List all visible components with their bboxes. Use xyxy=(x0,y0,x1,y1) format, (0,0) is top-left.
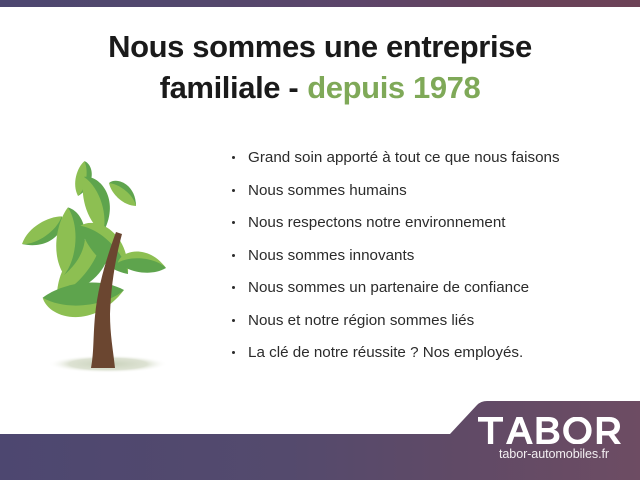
list-item-label: Nous respectons notre environnement xyxy=(248,214,506,231)
bullet-dot-icon xyxy=(232,156,235,159)
list-item-label: Nous et notre région sommes liés xyxy=(248,312,474,329)
list-item: Nous sommes humains xyxy=(231,181,631,201)
list-item: La clé de notre réussite ? Nos employés. xyxy=(231,343,631,363)
page-title: Nous sommes une entreprise familiale -de… xyxy=(0,26,640,108)
list-item: Grand soin apporté à tout ce que nous fa… xyxy=(231,148,631,168)
list-item-label: Nous sommes un partenaire de confiance xyxy=(248,279,529,296)
bullet-dot-icon xyxy=(232,254,235,257)
tabor-wordmark-icon xyxy=(478,417,626,444)
bullet-dot-icon xyxy=(232,351,235,354)
page-title-line-1: Nous sommes une entreprise xyxy=(0,26,640,67)
bullet-dot-icon xyxy=(232,319,235,322)
brand-tagline: tabor-automobiles.fr xyxy=(478,447,630,461)
bullet-dot-icon xyxy=(232,189,235,192)
top-accent-band xyxy=(0,0,640,7)
brand-logo[interactable]: tabor-automobiles.fr xyxy=(478,417,630,461)
slide-canvas: Nous sommes une entreprise familiale -de… xyxy=(0,0,640,480)
benefits-list: Grand soin apporté à tout ce que nous fa… xyxy=(231,148,631,376)
list-item: Nous et notre région sommes liés xyxy=(231,311,631,331)
list-item: Nous respectons notre environnement xyxy=(231,213,631,233)
bullet-dot-icon xyxy=(232,286,235,289)
list-item-label: Nous sommes humains xyxy=(248,182,407,199)
page-title-accent: depuis 1978 xyxy=(307,70,480,105)
list-item-label: La clé de notre réussite ? Nos employés. xyxy=(248,344,523,361)
list-item: Nous sommes innovants xyxy=(231,246,631,266)
list-item-label: Nous sommes innovants xyxy=(248,247,414,264)
page-title-line-2-main: familiale - xyxy=(160,70,299,105)
list-item-label: Grand soin apporté à tout ce que nous fa… xyxy=(248,149,560,166)
leaf-right-small xyxy=(117,243,168,285)
bullet-dot-icon xyxy=(232,221,235,224)
leaf-top-right-small xyxy=(108,175,139,213)
list-item: Nous sommes un partenaire de confiance xyxy=(231,278,631,298)
page-title-line-2: familiale -depuis 1978 xyxy=(0,67,640,108)
tree-illustration xyxy=(12,150,220,388)
